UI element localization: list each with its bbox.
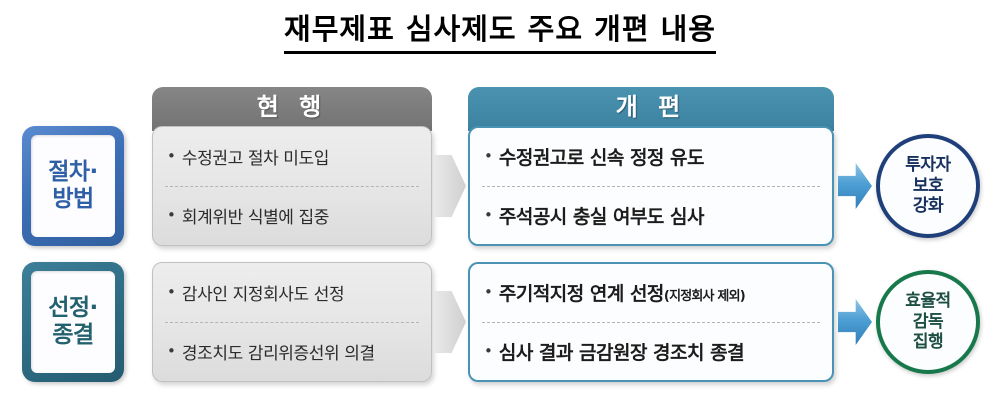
current-panel-row1: • 수정권고 절차 미도입 • 회계위반 식별에 집중 <box>152 126 432 246</box>
current-item-text: 감사인 지정회사도 선정 <box>182 280 431 305</box>
bullet-icon: • <box>167 344 176 359</box>
category-label-line1: 선정· <box>48 295 98 322</box>
infographic-canvas: 재무제표 심사제도 주요 개편 내용 현 행 개 편 절차· 방법 • 수정권고… <box>0 0 1000 410</box>
reform-panel-row1: • 수정권고로 신속 정정 유도 • 주석공시 충실 여부도 심사 <box>468 126 834 246</box>
reform-item-main: 심사 결과 금감원장 경조치 종결 <box>499 342 744 364</box>
outcome-circle-efficient-supervision: 효율적 감독 집행 <box>876 270 980 374</box>
arrow-right-icon <box>838 299 872 345</box>
bullet-icon: • <box>167 208 176 223</box>
bullet-icon: • <box>484 208 493 223</box>
reform-item-text: 수정권고로 신속 정정 유도 <box>499 143 832 170</box>
outcome-line2: 보호 <box>913 176 943 197</box>
list-item: • 주기적지정 연계 선정(지정회사 제외) <box>470 264 832 322</box>
outcome-line1: 효율적 <box>905 291 950 312</box>
page-title-text: 재무제표 심사제도 주요 개편 내용 <box>284 6 716 54</box>
list-item: • 수정권고 절차 미도입 <box>153 127 431 186</box>
outcome-line1: 투자자 <box>905 155 950 176</box>
column-header-current: 현 행 <box>152 87 432 131</box>
reform-item-text: 주기적지정 연계 선정(지정회사 제외) <box>499 279 832 306</box>
current-item-text: 경조치도 감리위증선위 의결 <box>182 339 431 364</box>
reform-item-note: (지정회사 제외) <box>664 289 745 304</box>
list-item: • 회계위반 식별에 집중 <box>153 187 431 246</box>
outcome-line3: 집행 <box>913 332 943 353</box>
bullet-icon: • <box>167 149 176 164</box>
reform-item-text: 주석공시 충실 여부도 심사 <box>499 202 832 229</box>
category-label-line2: 방법 <box>52 186 93 213</box>
bullet-icon: • <box>484 149 493 164</box>
category-label-line1: 절차· <box>48 159 98 186</box>
list-item: • 주석공시 충실 여부도 심사 <box>470 187 832 245</box>
category-label-line2: 종결 <box>52 322 93 349</box>
current-item-text: 수정권고 절차 미도입 <box>182 144 431 169</box>
current-item-text: 회계위반 식별에 집중 <box>182 203 431 228</box>
reform-item-main: 수정권고로 신속 정정 유도 <box>499 147 704 169</box>
reform-panel-row2: • 주기적지정 연계 선정(지정회사 제외) • 심사 결과 금감원장 경조치 … <box>468 262 834 382</box>
reform-item-text: 심사 결과 금감원장 경조치 종결 <box>499 338 832 365</box>
category-label-procedure-method: 절차· 방법 <box>22 126 124 246</box>
reform-item-main: 주기적지정 연계 선정 <box>499 283 664 305</box>
page-title: 재무제표 심사제도 주요 개편 내용 <box>0 6 1000 54</box>
bullet-icon: • <box>484 344 493 359</box>
current-panel-row2: • 감사인 지정회사도 선정 • 경조치도 감리위증선위 의결 <box>152 262 432 382</box>
list-item: • 심사 결과 금감원장 경조치 종결 <box>470 323 832 381</box>
chevron-right-icon <box>434 155 466 217</box>
column-header-reform: 개 편 <box>468 87 834 131</box>
list-item: • 감사인 지정회사도 선정 <box>153 263 431 322</box>
category-label-inner: 절차· 방법 <box>31 135 115 237</box>
list-item: • 수정권고로 신속 정정 유도 <box>470 128 832 186</box>
bullet-icon: • <box>167 285 176 300</box>
outcome-line3: 강화 <box>913 196 943 217</box>
category-label-inner: 선정· 종결 <box>31 271 115 373</box>
outcome-circle-investor-protection: 투자자 보호 강화 <box>876 134 980 238</box>
category-label-selection-conclusion: 선정· 종결 <box>22 262 124 382</box>
arrow-right-icon <box>838 163 872 209</box>
list-item: • 경조치도 감리위증선위 의결 <box>153 323 431 382</box>
bullet-icon: • <box>484 285 493 300</box>
outcome-line2: 감독 <box>913 312 943 333</box>
chevron-right-icon <box>434 291 466 353</box>
reform-item-main: 주석공시 충실 여부도 심사 <box>499 206 704 228</box>
